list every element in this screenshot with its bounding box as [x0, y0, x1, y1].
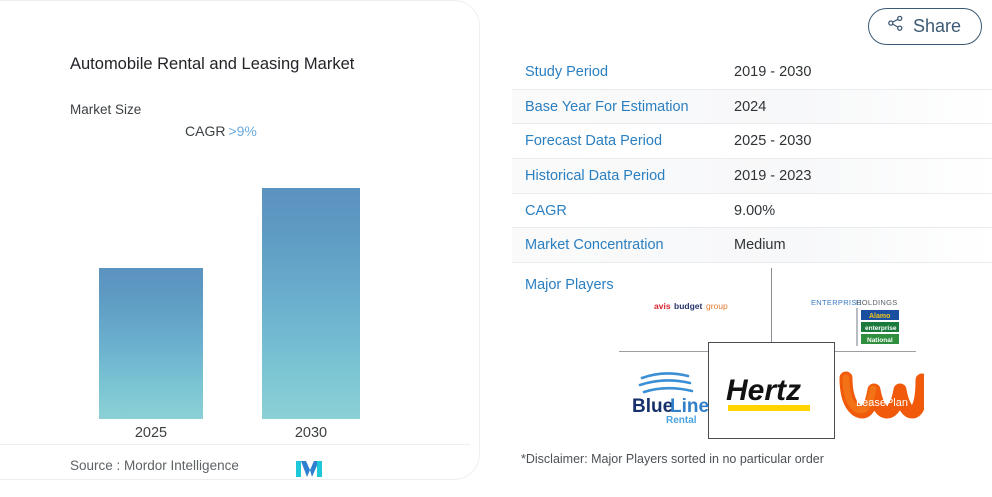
svg-text:LeasePlan: LeasePlan	[856, 397, 908, 409]
svg-text:HOLDINGS: HOLDINGS	[856, 298, 898, 307]
bar-label-2030: 2030	[262, 425, 360, 441]
share-nodes-icon	[887, 15, 904, 37]
table-row: CAGR 9.00%	[512, 194, 992, 229]
row-value: Medium	[734, 237, 786, 253]
row-label: Study Period	[512, 64, 734, 80]
svg-text:avis: avis	[654, 301, 671, 311]
bar-2030	[262, 188, 360, 419]
row-value: 2025 - 2030	[734, 133, 811, 149]
blueline-rental-logo-icon: Blue Line Rental	[626, 368, 716, 426]
card-divider	[0, 444, 470, 445]
row-label: Historical Data Period	[512, 168, 734, 184]
row-value: 2019 - 2030	[734, 64, 811, 80]
diagram-vertical-line	[771, 268, 772, 350]
major-players-disclaimer: *Disclaimer: Major Players sorted in no …	[521, 452, 824, 466]
mordor-intelligence-logo-icon	[296, 459, 322, 477]
table-row: Historical Data Period 2019 - 2023	[512, 159, 992, 194]
table-row: Market Concentration Medium	[512, 228, 992, 263]
svg-text:National: National	[867, 337, 893, 344]
svg-text:Alamo: Alamo	[869, 313, 890, 320]
source-row: Source : Mordor Intelligence	[70, 457, 460, 481]
svg-text:Blue: Blue	[632, 396, 673, 417]
row-value: 2019 - 2023	[734, 168, 811, 184]
share-button[interactable]: Share	[868, 8, 982, 45]
svg-text:ENTERPRISE: ENTERPRISE	[811, 298, 862, 307]
market-summary-page: Automobile Rental and Leasing Market Mar…	[0, 0, 992, 497]
row-label: Base Year For Estimation	[512, 99, 734, 115]
bar-label-2025: 2025	[99, 425, 203, 441]
row-label: Forecast Data Period	[512, 133, 734, 149]
table-row: Study Period 2019 - 2030	[512, 55, 992, 90]
major-players-diagram: avis budget group ENTERPRISE HOLDINGS Al…	[506, 268, 992, 443]
table-row: Forecast Data Period 2025 - 2030	[512, 124, 992, 159]
svg-text:Line: Line	[670, 396, 709, 417]
share-button-label: Share	[913, 16, 961, 37]
bar-2025	[99, 268, 203, 419]
market-details-panel: Share Study Period 2019 - 2030 Base Year…	[506, 0, 992, 497]
market-size-chart-card: Automobile Rental and Leasing Market Mar…	[0, 0, 480, 480]
row-value: 2024	[734, 99, 766, 115]
row-label: CAGR	[512, 203, 734, 219]
row-label: Market Concentration	[512, 237, 734, 253]
leaseplan-logo-icon: LeasePlan	[836, 368, 924, 420]
hertz-logo-icon: Hertz	[716, 368, 828, 420]
bar-chart-plot: 2025 2030	[0, 1, 480, 481]
enterprise-holdings-logo-icon: ENTERPRISE HOLDINGS Alamo enterprise Nat…	[811, 296, 901, 348]
avis-budget-group-logo-icon: avis budget group	[654, 298, 742, 314]
svg-text:Hertz: Hertz	[726, 374, 801, 407]
source-name: Mordor Intelligence	[124, 458, 239, 473]
svg-text:group: group	[706, 301, 728, 311]
svg-text:budget: budget	[674, 301, 702, 311]
row-value: 9.00%	[734, 203, 775, 219]
svg-text:Rental: Rental	[666, 415, 697, 426]
market-attributes-table: Study Period 2019 - 2030 Base Year For E…	[512, 55, 992, 263]
table-row: Base Year For Estimation 2024	[512, 90, 992, 125]
svg-text:enterprise: enterprise	[865, 325, 897, 332]
source-prefix: Source :	[70, 458, 124, 473]
